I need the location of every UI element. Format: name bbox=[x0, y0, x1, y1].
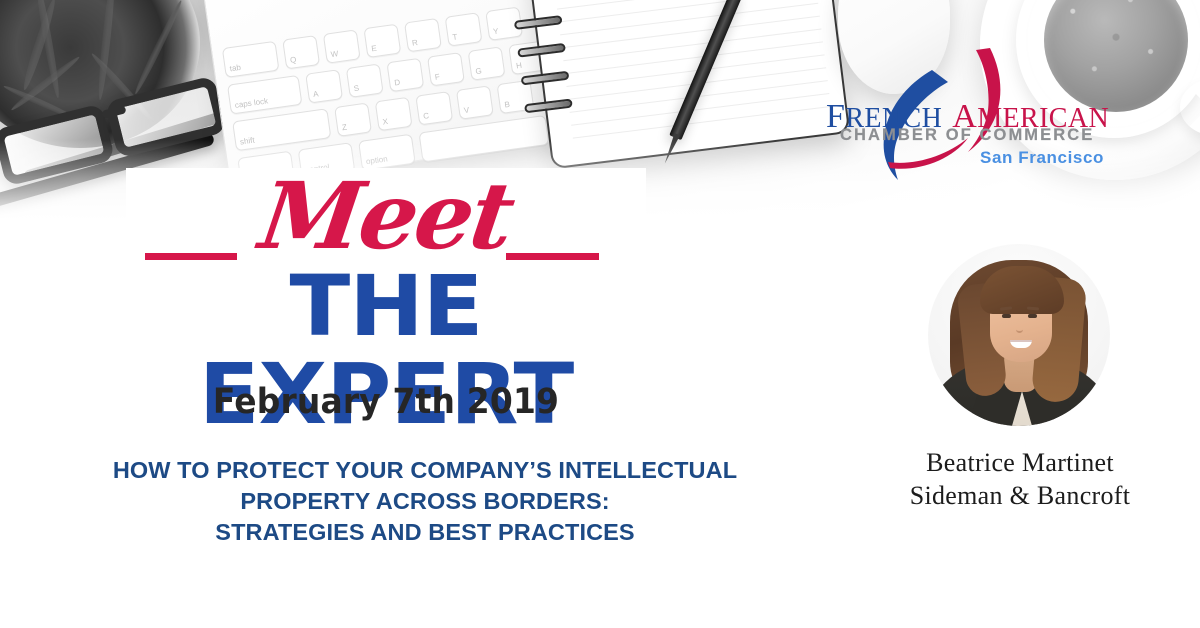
talk-title-line-3: STRATEGIES AND BEST PRACTICES bbox=[40, 517, 810, 548]
avatar-nose bbox=[1016, 324, 1023, 333]
talk-title-line-2: PROPERTY ACROSS BORDERS: bbox=[40, 486, 810, 517]
keyboard-key: V bbox=[456, 85, 494, 119]
headline-rule-right bbox=[506, 253, 599, 260]
keyboard-key: C bbox=[415, 91, 453, 125]
keyboard-key: S bbox=[346, 63, 384, 97]
keyboard-key: G bbox=[468, 46, 506, 80]
speaker-credit: Beatrice Martinet Sideman & Bancroft bbox=[860, 446, 1180, 512]
keyboard-key: E bbox=[363, 24, 401, 58]
speaker-name: Beatrice Martinet bbox=[860, 446, 1180, 479]
event-date: February 7th 2019 bbox=[142, 381, 631, 423]
keyboard-key: W bbox=[323, 29, 361, 63]
logo-city: San Francisco bbox=[980, 148, 1104, 168]
headline-script-word: Meet bbox=[120, 170, 653, 262]
talk-title-line-1: HOW TO PROTECT YOUR COMPANY’S INTELLECTU… bbox=[40, 455, 810, 486]
speaker-firm: Sideman & Bancroft bbox=[860, 479, 1180, 512]
avatar-eye bbox=[1028, 314, 1037, 318]
keyboard-key: R bbox=[404, 18, 442, 52]
keyboard-key: Z bbox=[334, 102, 372, 136]
keyboard-key: T bbox=[445, 12, 483, 46]
event-poster: tab Q W E R T Y caps lock A S D F G H sh… bbox=[0, 0, 1200, 628]
keyboard-key: Q bbox=[282, 35, 320, 69]
avatar-eye bbox=[1002, 314, 1011, 318]
facc-logo: FRENCHAMERICAN CHAMBER OF COMMERCE San F… bbox=[822, 42, 1140, 180]
speaker-avatar bbox=[928, 244, 1110, 426]
logo-subtitle: CHAMBER OF COMMERCE bbox=[840, 126, 1094, 145]
keyboard-key: A bbox=[305, 69, 343, 103]
keyboard-key: X bbox=[375, 97, 413, 131]
keyboard-key: tab bbox=[222, 41, 280, 78]
keyboard-key: F bbox=[427, 52, 465, 86]
talk-title: HOW TO PROTECT YOUR COMPANY’S INTELLECTU… bbox=[40, 455, 810, 548]
headline-rule-left bbox=[145, 253, 237, 260]
keyboard-key: D bbox=[386, 58, 424, 92]
notebook-lines bbox=[548, 0, 833, 155]
keyboard-key: caps lock bbox=[227, 75, 302, 115]
